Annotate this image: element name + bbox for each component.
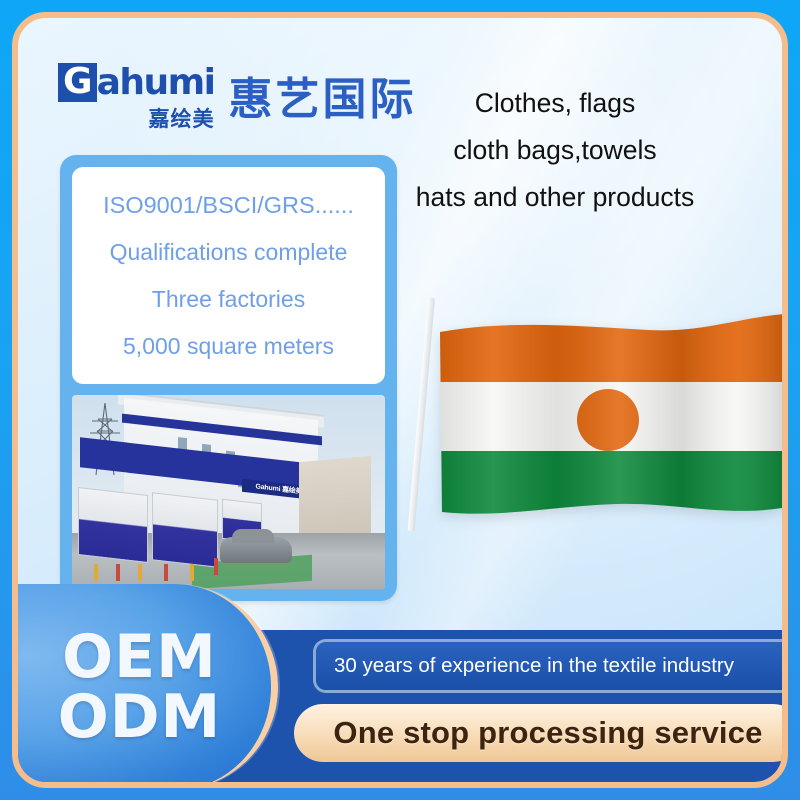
company-logo: G ahumi 嘉绘美 惠艺国际	[58, 63, 416, 133]
odm-label: ODM	[58, 687, 222, 747]
photo-roller-shutter	[78, 487, 148, 563]
product-line-2: cloth bags,towels	[370, 127, 740, 174]
niger-flag-graphic	[438, 312, 786, 518]
logo-g-box: G	[58, 63, 97, 102]
qual-line-factories: Three factories	[152, 277, 305, 321]
photo-bollard	[94, 564, 98, 581]
factory-photo: Gahumi 嘉绘美	[72, 395, 385, 589]
photo-bollard	[190, 564, 194, 581]
poster-inner-frame: G ahumi 嘉绘美 惠艺国际 Clothes, flags cloth ba…	[12, 12, 788, 788]
left-info-panel: ISO9001/BSCI/GRS...... Qualifications co…	[60, 155, 397, 601]
flag-of-niger	[416, 290, 788, 540]
flag-pole	[408, 298, 435, 532]
photo-roller-shutter	[152, 492, 218, 568]
experience-badge: 30 years of experience in the textile in…	[316, 642, 788, 690]
product-list-text: Clothes, flags cloth bags,towels hats an…	[370, 80, 740, 221]
photo-car	[220, 537, 292, 563]
photo-bollard	[164, 564, 168, 581]
oem-odm-badge: OEM ODM	[12, 584, 278, 788]
qual-line-area: 5,000 square meters	[123, 324, 334, 368]
photo-bollard	[214, 558, 218, 575]
logo-latin-row: G ahumi	[58, 63, 214, 102]
bottom-banner: OEM ODM 30 years of experience in the te…	[18, 630, 782, 782]
product-line-3: hats and other products	[370, 174, 740, 221]
one-stop-service-badge: One stop processing service	[294, 704, 788, 762]
poster-canvas: G ahumi 嘉绘美 惠艺国际 Clothes, flags cloth ba…	[0, 0, 800, 800]
qualifications-card: ISO9001/BSCI/GRS...... Qualifications co…	[72, 167, 385, 384]
oem-label: OEM	[62, 627, 217, 687]
qual-line-certifications: ISO9001/BSCI/GRS......	[103, 183, 354, 227]
photo-bollard	[116, 564, 120, 581]
logo-chinese-small: 嘉绘美	[58, 103, 214, 133]
product-line-1: Clothes, flags	[370, 80, 740, 127]
logo-latin-group: G ahumi 嘉绘美	[58, 63, 214, 133]
logo-wordmark: ahumi	[97, 66, 215, 100]
photo-bollard	[138, 564, 142, 581]
qual-line-complete: Qualifications complete	[110, 230, 348, 274]
